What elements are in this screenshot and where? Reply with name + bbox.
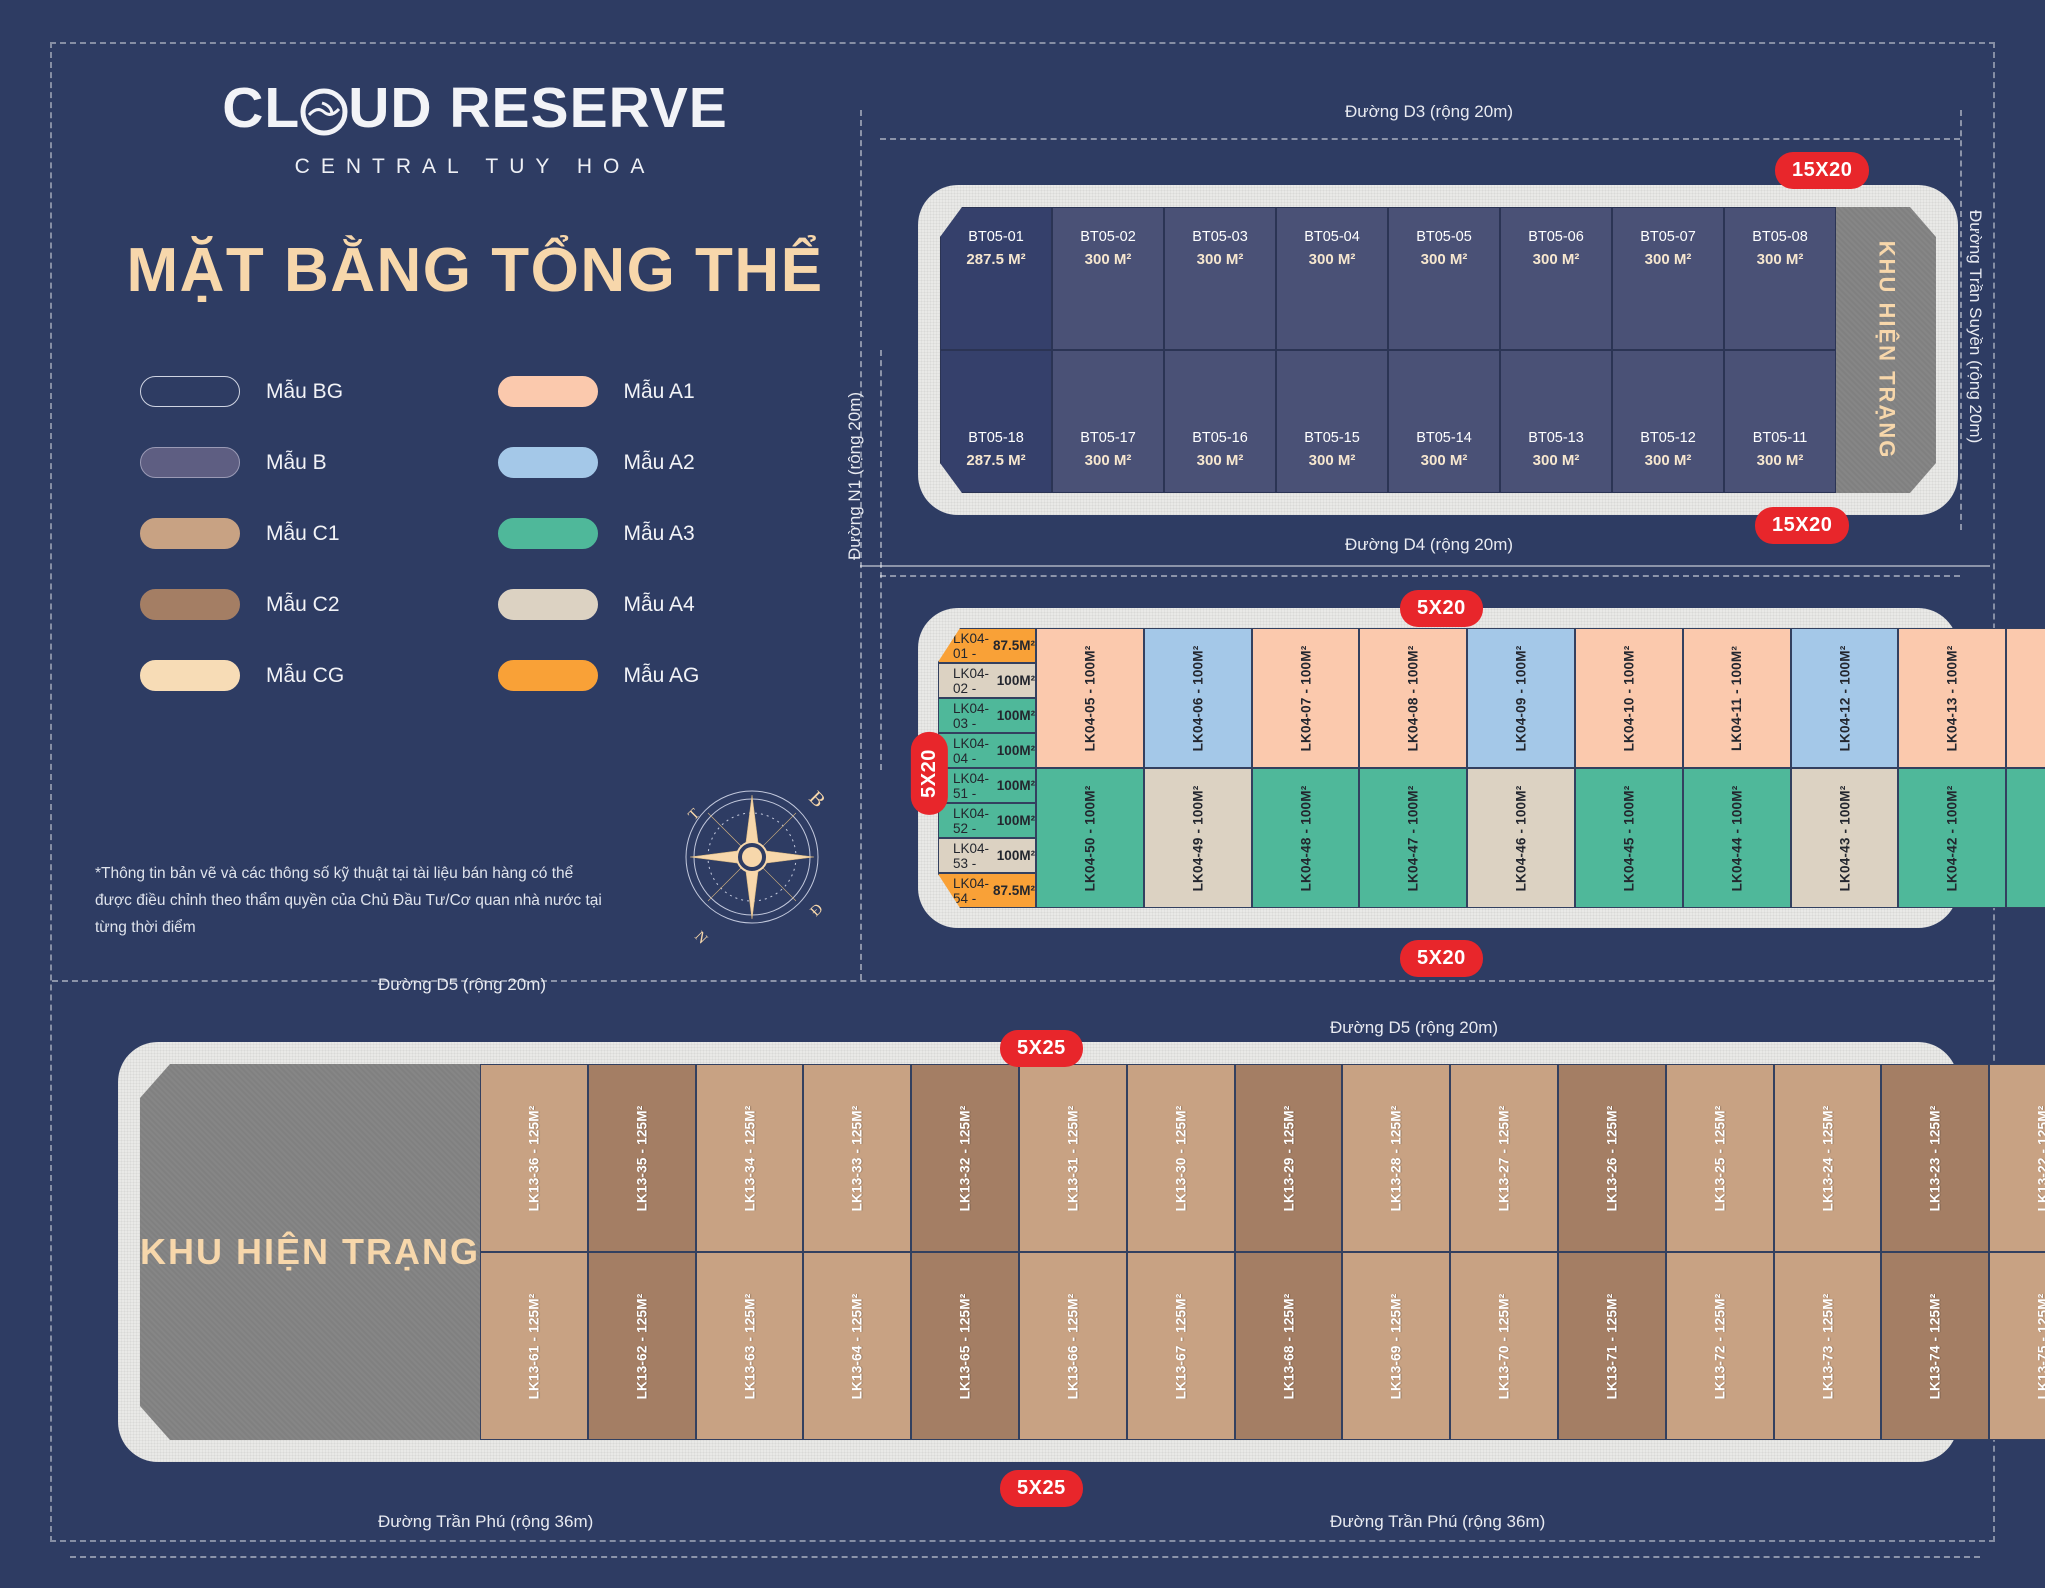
legend-label: Mẫu B [266,451,327,475]
lot-code: BT05-11 [1753,428,1808,450]
lot-label: LK13-75 - 125M² [2036,1293,2045,1399]
lot-code: BT05-06 [1528,227,1584,249]
lot-cell[interactable]: BT05-03300 M² [1164,207,1276,350]
brand-name-rest: UD RESERVE [348,75,728,141]
brand-tagline: CENTRAL TUY HOA [95,155,855,179]
lot-column: LK13-24 - 125M²LK13-73 - 125M² [1774,1064,1882,1440]
lot-code: BT05-14 [1416,428,1472,450]
legend-swatch [140,376,240,407]
legend-swatch [140,660,240,691]
lot-label: LK04-42 - 100M² [1945,785,1960,891]
lot-column: LK13-23 - 125M²LK13-74 - 125M² [1881,1064,1989,1440]
lot-label: LK04-11 - 100M² [1729,645,1744,750]
lot-column: LK13-30 - 125M²LK13-67 - 125M² [1127,1064,1235,1440]
lot-label: LK13-61 - 125M² [526,1293,541,1399]
lot-column: LK04-12 - 100M²LK04-43 - 100M² [1791,628,1899,908]
lot-cell[interactable]: LK13-26 - 125M² [1558,1064,1666,1252]
lot-cell[interactable]: BT05-12300 M² [1612,350,1724,493]
lot-column: LK13-33 - 125M²LK13-64 - 125M² [803,1064,911,1440]
lot-cell[interactable]: LK04-14 - 100M² [2006,628,2045,768]
road-label-tran-suyen: Đường Trần Suyền (rộng 20m) [1965,210,1985,443]
legend-label: Mẫu C1 [266,522,340,546]
lot-cell[interactable]: LK04-05 - 100M² [1036,628,1144,768]
lot-cell[interactable]: BT05-07300 M² [1612,207,1724,350]
lot-cell[interactable]: LK04-42 - 100M² [1898,768,2006,908]
horizontal-divider-mid [52,980,1994,982]
lot-area: 300 M² [1197,450,1244,473]
lot-cell[interactable]: LK13-62 - 125M² [588,1252,696,1440]
lot-label: LK04-44 - 100M² [1729,785,1744,891]
lot-label: LK13-68 - 125M² [1281,1293,1296,1399]
lot-code: BT05-18 [968,428,1024,450]
lot-cell[interactable]: BT05-17300 M² [1052,350,1164,493]
lot-area: 100M² [997,673,1035,688]
lot-cell[interactable]: LK04-48 - 100M² [1252,768,1360,908]
badge-lk04-bottom: 5X20 [1400,940,1483,977]
lot-code: LK04-53 - [953,841,993,871]
lot-label: LK13-62 - 125M² [634,1293,649,1399]
lot-cell[interactable]: LK13-30 - 125M² [1127,1064,1235,1252]
block-lk04: LK04-01 - 87.5M²LK04-02 - 100M²LK04-03 -… [918,608,1958,928]
lot-column: LK13-35 - 125M²LK13-62 - 125M² [588,1064,696,1440]
legend-label: Mẫu A1 [624,380,695,404]
lot-label: LK13-31 - 125M² [1065,1105,1080,1211]
road-dash-n1 [880,350,882,770]
lot-area: 300 M² [1309,249,1356,272]
lot-area: 300 M² [1421,249,1468,272]
lot-cell[interactable]: LK13-67 - 125M² [1127,1252,1235,1440]
existing-area-lk13-label: KHU HIỆN TRẠNG [140,1231,480,1273]
legend-item: Mẫu C2 [140,589,498,620]
lot-cell[interactable]: LK13-22 - 125M² [1989,1064,2045,1252]
legend-label: Mẫu AG [624,664,700,688]
page-title: MẶT BẰNG TỔNG THỂ [95,235,855,306]
lot-area: 300 M² [1309,450,1356,473]
lot-label: LK13-65 - 125M² [958,1293,973,1399]
lot-code: LK04-52 - [953,806,993,836]
legend-label: Mẫu A3 [624,522,695,546]
lot-code: BT05-13 [1528,428,1584,450]
lot-area: 287.5 M² [966,249,1025,272]
road-label-d5-right: Đường D5 (rộng 20m) [1330,1018,1498,1038]
block-bt05: BT05-01287.5 M²BT05-02300 M²BT05-03300 M… [918,185,1958,515]
lot-area: 300 M² [1085,249,1132,272]
lot-column: LK13-27 - 125M²LK13-70 - 125M² [1450,1064,1558,1440]
legend-item: Mẫu AG [498,660,856,691]
lot-code: BT05-01 [968,227,1024,249]
lot-label: LK04-08 - 100M² [1406,645,1421,751]
lot-cell[interactable]: LK13-73 - 125M² [1774,1252,1882,1440]
block-bt05-inner: BT05-01287.5 M²BT05-02300 M²BT05-03300 M… [940,207,1936,493]
lot-area: 100M² [997,813,1035,828]
lot-label: LK13-66 - 125M² [1065,1293,1080,1399]
lot-column: LK13-28 - 125M²LK13-69 - 125M² [1342,1064,1450,1440]
lot-column: LK13-26 - 125M²LK13-71 - 125M² [1558,1064,1666,1440]
lot-area: 100M² [997,848,1035,863]
legend-swatch [498,518,598,549]
lot-cell[interactable]: LK13-64 - 125M² [803,1252,911,1440]
legend-swatch [140,589,240,620]
lot-label: LK13-32 - 125M² [958,1105,973,1211]
lot-area: 300 M² [1085,450,1132,473]
road-label-tran-phu-left: Đường Trần Phú (rộng 36m) [378,1512,593,1532]
lot-label: LK04-50 - 100M² [1082,785,1097,891]
lot-cell[interactable]: LK13-32 - 125M² [911,1064,1019,1252]
lot-column: LK04-07 - 100M²LK04-48 - 100M² [1252,628,1360,908]
lot-label: LK13-35 - 125M² [634,1105,649,1211]
lot-cell[interactable]: LK04-45 - 100M² [1575,768,1683,908]
legend-swatch [498,589,598,620]
brand-name-part: CL [222,75,300,141]
lot-cell[interactable]: LK13-29 - 125M² [1235,1064,1343,1252]
lot-label: LK04-05 - 100M² [1082,645,1097,751]
lot-cell[interactable]: LK04-02 - 100M² [938,663,1036,698]
lot-column: LK04-14 - 100M²LK04-41 - 100M² [2006,628,2045,908]
lot-label: LK13-25 - 125M² [1712,1105,1727,1211]
lot-cell[interactable]: LK04-08 - 100M² [1359,628,1467,768]
lot-label: LK13-22 - 125M² [2036,1105,2045,1211]
lot-code: LK04-01 - [953,631,989,661]
brand-logo: CL UD RESERVE CENTRAL TUY HOA [95,75,855,179]
block-lk13-inner: KHU HIỆN TRẠNG LK13-36 - 125M²LK13-61 - … [140,1064,1936,1440]
legend-item: Mẫu BG [140,376,498,407]
lot-cell[interactable]: LK04-52 - 100M² [938,803,1036,838]
lot-cell[interactable]: LK04-47 - 100M² [1359,768,1467,908]
legend: Mẫu BGMẫu A1Mẫu BMẫu A2Mẫu C1Mẫu A3Mẫu C… [95,376,855,691]
lot-area: 300 M² [1533,249,1580,272]
lot-cell[interactable]: LK13-25 - 125M² [1666,1064,1774,1252]
existing-area-bt05-label: KHU HIỆN TRẠNG [1873,241,1899,460]
badge-lk04-top: 5X20 [1400,590,1483,627]
lot-label: LK13-69 - 125M² [1389,1293,1404,1399]
lot-cell[interactable]: BT05-11300 M² [1724,350,1836,493]
lot-cell[interactable]: LK04-46 - 100M² [1467,768,1575,908]
lot-cell[interactable]: LK13-70 - 125M² [1450,1252,1558,1440]
lot-label: LK04-46 - 100M² [1514,785,1529,891]
lot-cell[interactable]: LK13-27 - 125M² [1450,1064,1558,1252]
lot-cell[interactable]: LK04-11 - 100M² [1683,628,1791,768]
lot-label: LK04-49 - 100M² [1190,785,1205,891]
lot-area: 87.5M² [993,883,1035,898]
badge-lk13-bottom: 5X25 [1000,1470,1083,1507]
compass-south-label: N [691,929,710,945]
lot-cell[interactable]: LK13-35 - 125M² [588,1064,696,1252]
lot-column: LK13-34 - 125M²LK13-63 - 125M² [696,1064,804,1440]
lot-cell[interactable]: LK13-72 - 125M² [1666,1252,1774,1440]
lot-label: LK13-73 - 125M² [1820,1293,1835,1399]
lot-label: LK13-34 - 125M² [742,1105,757,1211]
lot-label: LK13-33 - 125M² [850,1105,865,1211]
lot-cell[interactable]: LK04-12 - 100M² [1791,628,1899,768]
lot-code: BT05-17 [1080,428,1136,450]
lot-label: LK04-06 - 100M² [1190,645,1205,751]
legend-item: Mẫu C1 [140,518,498,549]
lot-cell[interactable]: LK04-50 - 100M² [1036,768,1144,908]
lot-cell[interactable]: BT05-06300 M² [1500,207,1612,350]
lot-cell[interactable]: LK04-07 - 100M² [1252,628,1360,768]
lot-cell[interactable]: BT05-13300 M² [1500,350,1612,493]
road-label-d3: Đường D3 (rộng 20m) [1345,102,1513,122]
road-label-d5-left: Đường D5 (rộng 20m) [378,975,546,995]
road-label-d4: Đường D4 (rộng 20m) [1345,535,1513,555]
lot-label: LK04-45 - 100M² [1621,785,1636,891]
lk13-columns: LK13-36 - 125M²LK13-61 - 125M²LK13-35 - … [480,1064,2045,1440]
lot-cell[interactable]: BT05-08300 M² [1724,207,1836,350]
legend-label: Mẫu A4 [624,593,695,617]
lot-cell[interactable]: LK13-61 - 125M² [480,1252,588,1440]
lot-label: LK13-29 - 125M² [1281,1105,1296,1211]
legend-item: Mẫu B [140,447,498,478]
lot-column: LK04-08 - 100M²LK04-47 - 100M² [1359,628,1467,908]
compass-east-label: Đ [808,901,827,920]
legend-swatch [140,518,240,549]
lot-cell[interactable]: BT05-18287.5 M² [940,350,1052,493]
road-label-n1: Đường N1 (rộng 20m) [845,392,865,560]
lot-area: 300 M² [1197,249,1244,272]
lot-area: 300 M² [1757,450,1804,473]
lot-cell[interactable]: LK04-13 - 100M² [1898,628,2006,768]
lot-label: LK13-63 - 125M² [742,1293,757,1399]
badge-bt05-top: 15X20 [1775,152,1869,189]
lot-area: 100M² [997,778,1035,793]
legend-item: Mẫu CG [140,660,498,691]
disclaimer-note: *Thông tin bản vẽ và các thông số kỹ thu… [95,860,605,941]
badge-bt05-bottom: 15X20 [1755,507,1849,544]
legend-item: Mẫu A1 [498,376,856,407]
road-label-tran-phu-right: Đường Trần Phú (rộng 36m) [1330,1512,1545,1532]
lot-cell[interactable]: BT05-05300 M² [1388,207,1500,350]
lot-cell[interactable]: LK13-66 - 125M² [1019,1252,1127,1440]
lot-code: BT05-05 [1416,227,1472,249]
lk04-left-stack: LK04-01 - 87.5M²LK04-02 - 100M²LK04-03 -… [938,628,1036,908]
legend-item: Mẫu A3 [498,518,856,549]
lot-column: LK04-10 - 100M²LK04-45 - 100M² [1575,628,1683,908]
legend-item: Mẫu A4 [498,589,856,620]
lot-cell[interactable]: LK13-33 - 125M² [803,1064,911,1252]
lot-code: BT05-02 [1080,227,1136,249]
block-lk13: KHU HIỆN TRẠNG LK13-36 - 125M²LK13-61 - … [118,1042,1958,1462]
lot-cell[interactable]: BT05-01287.5 M² [940,207,1052,350]
lot-column: LK13-36 - 125M²LK13-61 - 125M² [480,1064,588,1440]
existing-area-lk13: KHU HIỆN TRẠNG [140,1064,480,1440]
lot-label: LK04-43 - 100M² [1837,785,1852,891]
lot-area: 300 M² [1645,450,1692,473]
legend-label: Mẫu C2 [266,593,340,617]
lot-cell[interactable]: LK04-43 - 100M² [1791,768,1899,908]
road-dash-d4 [880,575,1960,577]
lot-label: LK13-67 - 125M² [1173,1293,1188,1399]
lot-area: 100M² [997,708,1035,723]
lot-label: LK13-36 - 125M² [526,1105,541,1211]
compass-west-label: T [686,806,704,824]
block-lk04-inner: LK04-01 - 87.5M²LK04-02 - 100M²LK04-03 -… [938,628,1938,908]
lot-label: LK04-07 - 100M² [1298,645,1313,751]
legend-label: Mẫu BG [266,380,343,404]
road-dash-d3 [880,138,1960,140]
lot-cell[interactable]: LK13-24 - 125M² [1774,1064,1882,1252]
legend-label: Mẫu CG [266,664,344,688]
lot-cell[interactable]: LK04-03 - 100M² [938,698,1036,733]
lot-label: LK13-64 - 125M² [850,1293,865,1399]
lot-cell[interactable]: LK13-36 - 125M² [480,1064,588,1252]
lot-cell[interactable]: BT05-04300 M² [1276,207,1388,350]
lot-cell[interactable]: LK13-23 - 125M² [1881,1064,1989,1252]
lot-label: LK13-28 - 125M² [1389,1105,1404,1211]
lot-cell[interactable]: LK04-06 - 100M² [1144,628,1252,768]
lot-label: LK13-23 - 125M² [1928,1105,1943,1211]
lot-label: LK13-24 - 125M² [1820,1105,1835,1211]
lot-cell[interactable]: BT05-15300 M² [1276,350,1388,493]
legend-label: Mẫu A2 [624,451,695,475]
lot-cell[interactable]: LK13-65 - 125M² [911,1252,1019,1440]
lot-cell[interactable]: LK04-01 - 87.5M² [938,628,1036,663]
lot-area: 300 M² [1533,450,1580,473]
lot-label: LK13-30 - 125M² [1173,1105,1188,1211]
lot-column: LK04-09 - 100M²LK04-46 - 100M² [1467,628,1575,908]
lot-cell[interactable]: BT05-14300 M² [1388,350,1500,493]
badge-lk13-top: 5X25 [1000,1030,1083,1067]
lot-column: LK04-13 - 100M²LK04-42 - 100M² [1898,628,2006,908]
legend-item: Mẫu A2 [498,447,856,478]
separator-n1-d4 [860,565,1990,567]
lot-code: LK04-04 - [953,736,993,766]
lot-cell[interactable]: LK04-10 - 100M² [1575,628,1683,768]
lot-cell[interactable]: LK13-69 - 125M² [1342,1252,1450,1440]
lot-label: LK04-47 - 100M² [1406,785,1421,891]
compass-rose-icon: B T N Đ [660,765,850,945]
badge-lk04-left: 5X20 [911,732,948,815]
lot-label: LK13-71 - 125M² [1604,1293,1619,1399]
lot-cell[interactable]: LK04-53 - 100M² [938,838,1036,873]
lot-cell[interactable]: LK13-34 - 125M² [696,1064,804,1252]
lot-code: BT05-04 [1304,227,1360,249]
lot-cell[interactable]: LK04-54 - 87.5M² [938,873,1036,908]
lot-label: LK13-72 - 125M² [1712,1293,1727,1399]
lot-cell[interactable]: LK13-63 - 125M² [696,1252,804,1440]
lot-code: BT05-08 [1752,227,1808,249]
lot-cell[interactable]: LK13-68 - 125M² [1235,1252,1343,1440]
legend-swatch [140,447,240,478]
lot-label: LK04-12 - 100M² [1837,645,1852,751]
lot-cell[interactable]: BT05-02300 M² [1052,207,1164,350]
lot-label: LK13-70 - 125M² [1497,1293,1512,1399]
lot-column: LK13-29 - 125M²LK13-68 - 125M² [1235,1064,1343,1440]
lot-cell[interactable]: LK13-75 - 125M² [1989,1252,2045,1440]
lot-cell[interactable]: LK04-44 - 100M² [1683,768,1791,908]
lot-area: 300 M² [1421,450,1468,473]
lot-cell[interactable]: LK13-71 - 125M² [1558,1252,1666,1440]
lot-column: LK13-32 - 125M²LK13-65 - 125M² [911,1064,1019,1440]
lot-code: BT05-12 [1640,428,1696,450]
lk04-columns: LK04-05 - 100M²LK04-50 - 100M²LK04-06 - … [1036,628,2045,908]
lot-column: LK04-05 - 100M²LK04-50 - 100M² [1036,628,1144,908]
lot-code: BT05-16 [1192,428,1248,450]
lot-area: 300 M² [1757,249,1804,272]
lot-column: LK04-11 - 100M²LK04-44 - 100M² [1683,628,1791,908]
lot-cell[interactable]: LK04-09 - 100M² [1467,628,1575,768]
lot-code: BT05-07 [1640,227,1696,249]
legend-swatch [498,447,598,478]
lot-code: LK04-03 - [953,701,993,731]
cloud-leaf-mark-icon [300,84,348,132]
lot-code: LK04-51 - [953,771,993,801]
lot-code: BT05-03 [1192,227,1248,249]
road-dash-tran-phu [70,1556,1980,1558]
lot-code: LK04-54 - [953,876,989,906]
lot-cell[interactable]: LK04-04 - 100M² [938,733,1036,768]
lot-column: LK13-22 - 125M²LK13-75 - 125M² [1989,1064,2045,1440]
lot-column: LK13-31 - 125M²LK13-66 - 125M² [1019,1064,1127,1440]
lot-area: 87.5M² [993,638,1035,653]
lot-label: LK04-10 - 100M² [1621,645,1636,751]
lot-label: LK04-48 - 100M² [1298,785,1313,891]
lot-cell[interactable]: LK13-31 - 125M² [1019,1064,1127,1252]
compass-north-label: B [804,787,829,812]
lot-code: BT05-15 [1304,428,1360,450]
road-dash-tran-suyen [1960,110,1962,530]
lot-cell[interactable]: LK13-74 - 125M² [1881,1252,1989,1440]
lot-code: LK04-02 - [953,666,993,696]
lot-column: LK04-06 - 100M²LK04-49 - 100M² [1144,628,1252,908]
lot-column: LK13-25 - 125M²LK13-72 - 125M² [1666,1064,1774,1440]
lot-label: LK04-09 - 100M² [1514,645,1529,751]
lot-label: LK13-27 - 125M² [1497,1105,1512,1211]
legend-swatch [498,376,598,407]
lot-cell[interactable]: LK13-28 - 125M² [1342,1064,1450,1252]
lot-cell[interactable]: LK04-49 - 100M² [1144,768,1252,908]
lot-cell[interactable]: BT05-16300 M² [1164,350,1276,493]
lot-area: 100M² [997,743,1035,758]
lot-area: 300 M² [1645,249,1692,272]
lot-cell[interactable]: LK04-41 - 100M² [2006,768,2045,908]
existing-area-bt05: KHU HIỆN TRẠNG [1836,207,1936,493]
lot-label: LK04-13 - 100M² [1945,645,1960,751]
lot-cell[interactable]: LK04-51 - 100M² [938,768,1036,803]
lot-area: 287.5 M² [966,450,1025,473]
left-info-panel: CL UD RESERVE CENTRAL TUY HOA MẶT BẰNG T… [95,75,855,691]
legend-swatch [498,660,598,691]
lot-label: LK13-74 - 125M² [1928,1293,1943,1399]
lot-label: LK13-26 - 125M² [1604,1105,1619,1211]
